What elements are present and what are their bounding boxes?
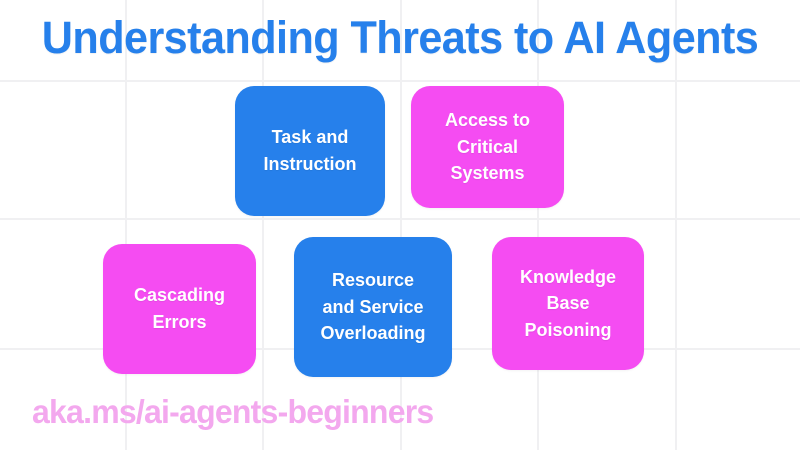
gridline-horizontal [0, 218, 800, 220]
threat-card-cascading-errors[interactable]: Cascading Errors [103, 244, 256, 374]
threat-card-task-and-instruction[interactable]: Task and Instruction [235, 86, 385, 216]
threat-card-access-to-critical-systems[interactable]: Access to Critical Systems [411, 86, 564, 208]
gridline-horizontal [0, 80, 800, 82]
gridline-vertical [262, 0, 264, 450]
gridline-vertical [400, 0, 402, 450]
threat-card-label: Task and Instruction [264, 124, 357, 177]
threat-card-resource-and-service-overloading[interactable]: Resource and Service Overloading [294, 237, 452, 377]
threat-card-label: Access to Critical Systems [445, 107, 530, 187]
gridline-vertical [125, 0, 127, 450]
page-title: Understanding Threats to AI Agents [16, 14, 784, 61]
threat-card-label: Resource and Service Overloading [320, 267, 425, 347]
threat-card-knowledge-base-poisoning[interactable]: Knowledge Base Poisoning [492, 237, 644, 370]
threat-card-label: Cascading Errors [134, 282, 225, 335]
gridline-vertical [537, 0, 539, 450]
threat-card-label: Knowledge Base Poisoning [520, 264, 616, 344]
slide-canvas: Understanding Threats to AI Agents Task … [0, 0, 800, 450]
footer-link-text[interactable]: aka.ms/ai-agents-beginners [32, 393, 433, 431]
gridline-vertical [675, 0, 677, 450]
background-grid [0, 0, 800, 450]
